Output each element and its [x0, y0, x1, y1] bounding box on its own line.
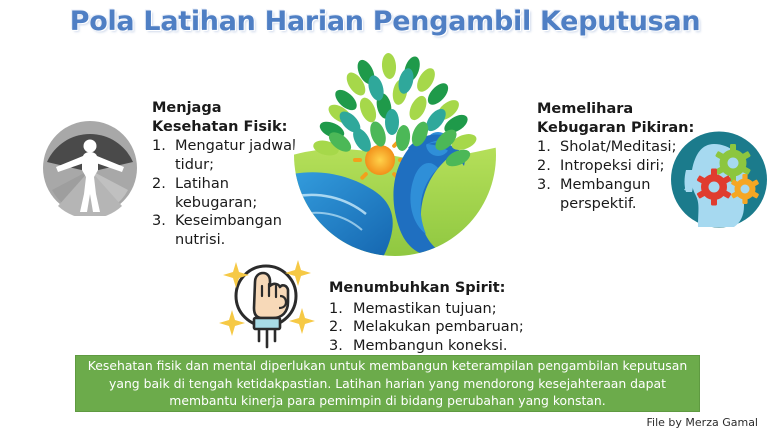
head-gears-icon: [670, 130, 768, 229]
list-item: 1. Memastikan tujuan;: [329, 300, 544, 319]
list-item: 2. Melakukan pembaruan;: [329, 318, 544, 337]
list-number: 3.: [537, 176, 560, 195]
list-text: Melakukan pembaruan;: [353, 318, 544, 337]
vitruvian-man-icon: [40, 120, 140, 216]
list-number: 2.: [537, 157, 560, 176]
list-text: Membangun koneksi.: [353, 337, 544, 356]
summary-banner-text: Kesehatan fisik dan mental diperlukan un…: [86, 357, 689, 410]
list-number: 1.: [329, 300, 353, 319]
spirit-block: Menumbuhkan Spirit: 1. Memastikan tujuan…: [329, 279, 544, 356]
list-text: Memastikan tujuan;: [353, 300, 544, 319]
spirit-list: 1. Memastikan tujuan; 2. Melakukan pemba…: [329, 300, 544, 357]
list-number: 3.: [329, 337, 353, 356]
list-number: 2.: [329, 318, 353, 337]
infographic-canvas: Pola Latihan Harian Pengambil Keputusan …: [0, 0, 770, 437]
page-title: Pola Latihan Harian Pengambil Keputusan: [0, 6, 770, 37]
list-item: 3. Membangun koneksi.: [329, 337, 544, 356]
list-number: 2.: [152, 175, 175, 194]
eco-wellness-tree-logo: [288, 48, 503, 263]
list-number: 1.: [537, 138, 560, 157]
list-number: 3.: [152, 212, 175, 231]
spirit-heading: Menumbuhkan Spirit:: [329, 279, 544, 298]
footer-credit: File by Merza Gamal: [647, 416, 758, 429]
summary-banner: Kesehatan fisik dan mental diperlukan un…: [75, 355, 700, 412]
list-number: 1.: [152, 137, 175, 156]
lightbulb-fist-icon: [210, 252, 322, 352]
